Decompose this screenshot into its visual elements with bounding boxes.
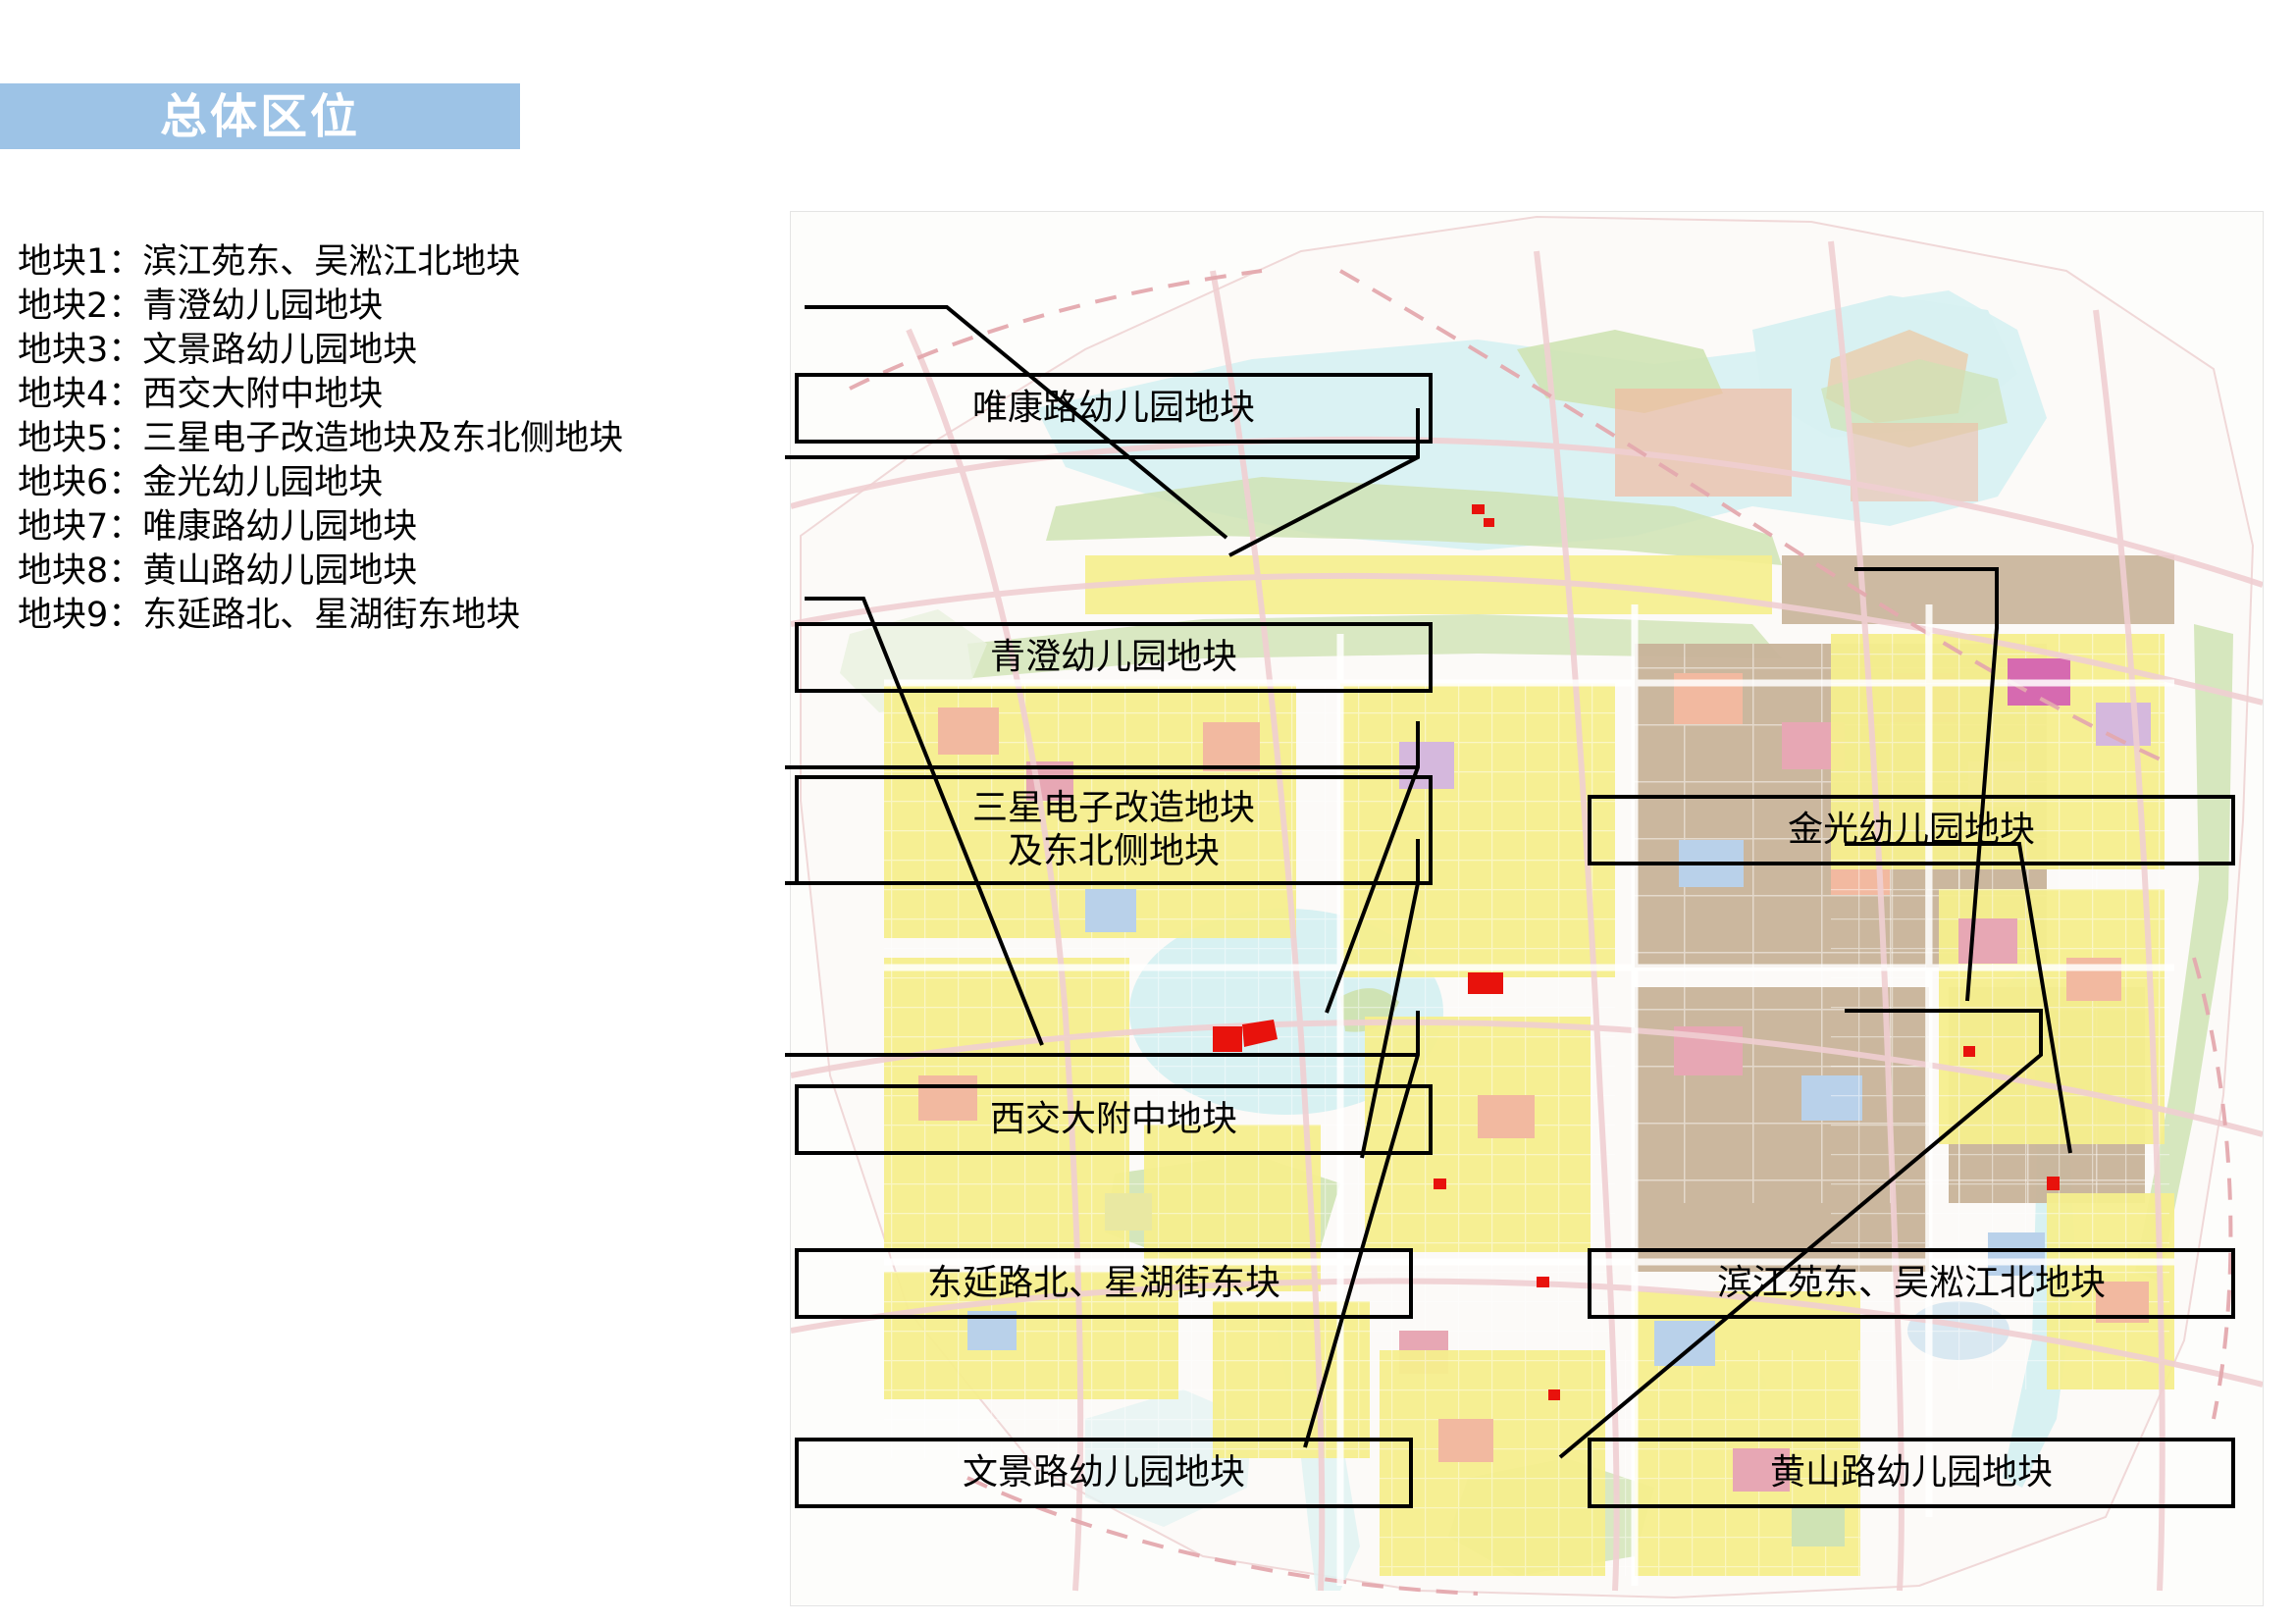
page-title-banner: 总体区位 (0, 83, 520, 149)
parcel-legend-list: 地块1：滨江苑东、吴淞江北地块 地块2：青澄幼儿园地块 地块3：文景路幼儿园地块… (18, 240, 803, 638)
legend-label: 青澄幼儿园地块 (142, 287, 383, 326)
legend-key: 地块2： (18, 287, 142, 326)
callout-label: 金光幼儿园地块 (1788, 809, 2035, 852)
legend-key: 地块7： (18, 507, 142, 547)
list-item: 地块5：三星电子改造地块及东北侧地块 (18, 417, 803, 461)
callout-label-line1: 三星电子改造地块 (972, 787, 1255, 830)
list-item: 地块4：西交大附中地块 (18, 373, 803, 417)
legend-key: 地块3： (18, 331, 142, 370)
list-item: 地块7：唯康路幼儿园地块 (18, 505, 803, 550)
callout-dongyan-road-north-xinghu-street-east[interactable]: 东延路北、星湖街东块 (795, 1248, 1413, 1319)
callout-label: 黄山路幼儿园地块 (1770, 1451, 2053, 1494)
list-item: 地块8：黄山路幼儿园地块 (18, 550, 803, 594)
legend-label: 唯康路幼儿园地块 (142, 507, 417, 547)
legend-label: 东延路北、星湖街东地块 (142, 596, 520, 635)
callout-label: 滨江苑东、吴淞江北地块 (1717, 1262, 2106, 1305)
legend-label: 金光幼儿园地块 (142, 463, 383, 502)
list-item: 地块3：文景路幼儿园地块 (18, 329, 803, 373)
callout-label: 西交大附中地块 (990, 1098, 1237, 1141)
callout-label: 东延路北、星湖街东块 (927, 1262, 1280, 1305)
legend-key: 地块5： (18, 419, 142, 458)
page-title: 总体区位 (160, 93, 360, 140)
legend-label: 西交大附中地块 (142, 375, 383, 414)
legend-label: 文景路幼儿园地块 (142, 331, 417, 370)
callout-label: 唯康路幼儿园地块 (972, 387, 1255, 430)
legend-key: 地块8： (18, 551, 142, 591)
callout-label: 青澄幼儿园地块 (990, 636, 1237, 679)
legend-label: 滨江苑东、吴淞江北地块 (142, 242, 520, 282)
legend-key: 地块4： (18, 375, 142, 414)
callout-weikang-road-kindergarten[interactable]: 唯康路幼儿园地块 (795, 373, 1433, 444)
legend-label: 黄山路幼儿园地块 (142, 551, 417, 591)
callout-jinguang-kindergarten[interactable]: 金光幼儿园地块 (1588, 795, 2235, 865)
legend-key: 地块6： (18, 463, 142, 502)
callout-label: 文景路幼儿园地块 (963, 1451, 1245, 1494)
list-item: 地块9：东延路北、星湖街东地块 (18, 594, 803, 638)
callout-qingcheng-kindergarten[interactable]: 青澄幼儿园地块 (795, 622, 1433, 693)
callout-huangshan-road-kindergarten[interactable]: 黄山路幼儿园地块 (1588, 1438, 2235, 1508)
list-item: 地块6：金光幼儿园地块 (18, 461, 803, 505)
callout-wenjing-road-kindergarten[interactable]: 文景路幼儿园地块 (795, 1438, 1413, 1508)
callout-samsung-electronics-redevelopment[interactable]: 三星电子改造地块 及东北侧地块 (795, 775, 1433, 885)
legend-key: 地块9： (18, 596, 142, 635)
legend-key: 地块1： (18, 242, 142, 282)
list-item: 地块2：青澄幼儿园地块 (18, 285, 803, 329)
list-item: 地块1：滨江苑东、吴淞江北地块 (18, 240, 803, 285)
callout-binjiangyuan-east-wusong-river-north[interactable]: 滨江苑东、吴淞江北地块 (1588, 1248, 2235, 1319)
legend-label: 三星电子改造地块及东北侧地块 (142, 419, 623, 458)
callout-label-line2: 及东北侧地块 (1008, 830, 1220, 873)
callout-xijiaoda-affiliated-middle-school[interactable]: 西交大附中地块 (795, 1084, 1433, 1155)
